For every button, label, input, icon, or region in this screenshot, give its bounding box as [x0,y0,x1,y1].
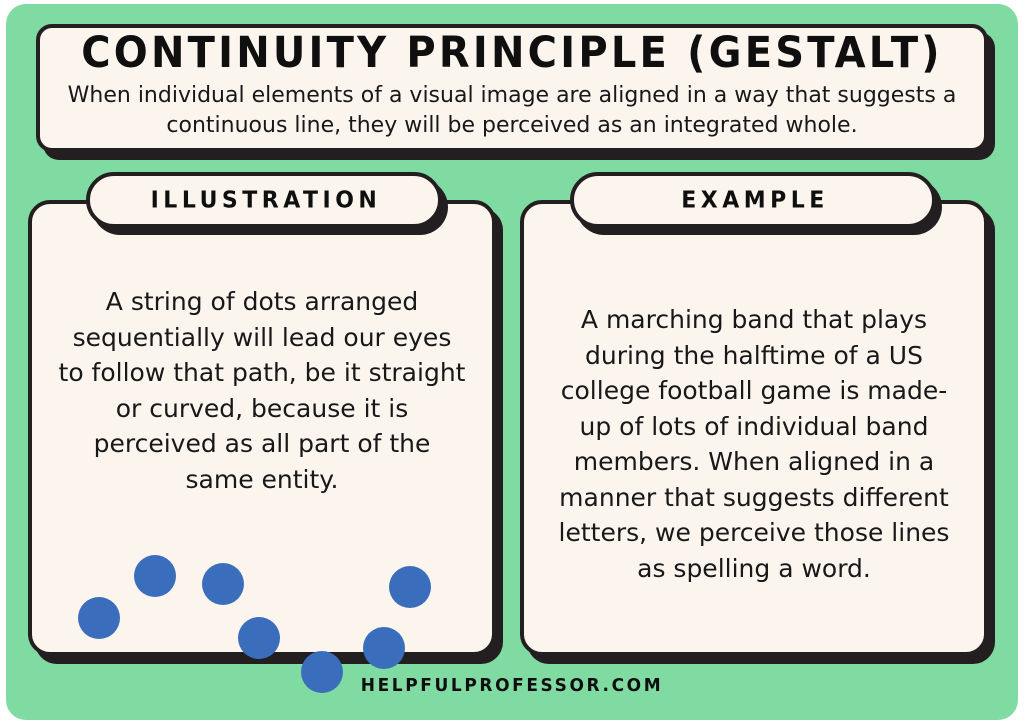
continuity-dot [389,566,431,608]
footer-site-name: HELPFULPROFESSOR.COM [361,676,664,697]
footer: HELPFULPROFESSOR.COM [0,676,1024,696]
continuity-dot [238,617,280,659]
page-title: CONTINUITY PRINCIPLE (GESTALT) [81,31,943,76]
illustration-badge: ILLUSTRATION [86,172,442,228]
infographic-root: CONTINUITY PRINCIPLE (GESTALT) When indi… [0,0,1024,724]
header-card: CONTINUITY PRINCIPLE (GESTALT) When indi… [36,24,988,152]
string-of-dots-diagram [52,531,472,630]
continuity-dot [363,627,405,669]
example-badge-label: EXAMPLE [677,187,829,213]
example-badge: EXAMPLE [570,172,936,228]
continuity-dot [78,597,120,639]
continuity-dot [134,555,176,597]
continuity-dot [202,563,244,605]
illustration-card: A string of dots arranged sequentially w… [28,200,496,656]
example-body-text: A marching band that plays during the ha… [550,280,958,586]
header-description: When individual elements of a visual ima… [67,81,957,139]
illustration-badge-label: ILLUSTRATION [147,187,382,213]
example-card: A marching band that plays during the ha… [520,200,988,656]
illustration-body-text: A string of dots arranged sequentially w… [58,280,466,497]
